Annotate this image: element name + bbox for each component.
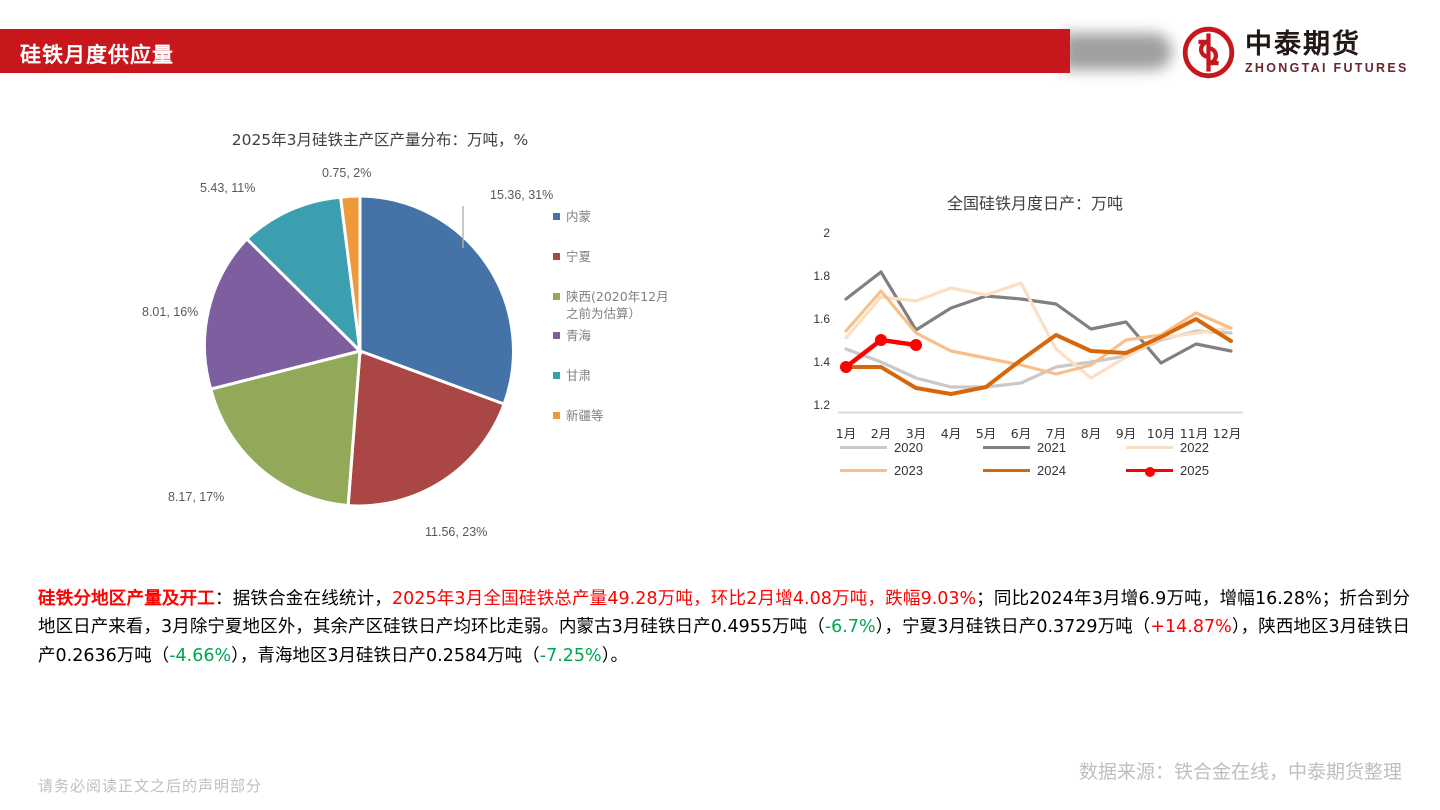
legend-swatch-icon [553, 253, 560, 260]
pie-chart-panel: 2025年3月硅铁主产区产量分布：万吨，% 15.36, 31% 11.56, … [150, 128, 670, 548]
legend-label: 2020 [894, 440, 923, 455]
line-chart-graphic [800, 220, 1245, 420]
legend-item-ningxia[interactable]: 宁夏 [553, 248, 671, 266]
legend-swatch-icon [553, 372, 560, 379]
legend-line-icon [1126, 469, 1173, 472]
legend-label: 2022 [1180, 440, 1209, 455]
legend-item-2022[interactable]: 2022 [1126, 440, 1269, 455]
commentary-t1: ：据铁合金在线统计， [215, 589, 392, 609]
legend-item-qinghai[interactable]: 青海 [553, 327, 671, 345]
brand-logo: 中泰期货 ZHONGTAI FUTURES [1182, 26, 1409, 79]
commentary-pct-shaanxi: -4.66% [169, 646, 231, 666]
legend-line-icon [840, 446, 887, 449]
legend-label: 青海 [566, 327, 591, 345]
legend-item-xinjiang[interactable]: 新疆等 [553, 407, 671, 425]
legend-swatch-icon [553, 412, 560, 419]
legend-label: 新疆等 [566, 407, 604, 425]
commentary-pct-neimeng: -6.7% [825, 617, 876, 637]
legend-swatch-icon [553, 332, 560, 339]
legend-item-2020[interactable]: 2020 [840, 440, 983, 455]
legend-item-2024[interactable]: 2024 [983, 463, 1126, 478]
legend-label: 陕西(2020年12月之前为估算） [566, 288, 671, 324]
legend-label: 甘肃 [566, 367, 591, 385]
pie-label-shaanxi: 8.17, 17% [168, 490, 224, 504]
commentary-pct-ningxia: +14.87% [1150, 617, 1231, 637]
commentary-paragraph: 硅铁分地区产量及开工：据铁合金在线统计，2025年3月全国硅铁总产量49.28万… [38, 585, 1410, 670]
legend-line-icon [1126, 446, 1173, 449]
logo-name-cn: 中泰期货 [1245, 31, 1409, 58]
legend-swatch-icon [553, 293, 560, 300]
pie-label-ningxia: 11.56, 23% [425, 525, 487, 539]
legend-label: 2024 [1037, 463, 1066, 478]
legend-label: 2023 [894, 463, 923, 478]
legend-item-2023[interactable]: 2023 [840, 463, 983, 478]
commentary-t6: ）。 [602, 646, 628, 666]
page-title: 硅铁月度供应量 [20, 39, 174, 69]
commentary-t5: ），青海地区3月硅铁日产0.2584万吨（ [231, 646, 540, 666]
line-chart-legend: 2020 2021 2022 2023 2024 [840, 440, 1270, 478]
commentary-highlight-total: 2025年3月全国硅铁总产量49.28万吨，环比2月增4.08万吨，跌幅9.03… [392, 589, 976, 609]
legend-label: 2021 [1037, 440, 1066, 455]
pie-chart-graphic [180, 176, 540, 526]
line-chart-panel: 全国硅铁月度日产：万吨 2 1.8 1.6 1.4 1.2 1月 2月 3月 [800, 190, 1270, 480]
pie-label-xinjiang: 0.75, 2% [322, 166, 371, 180]
legend-item-gansu[interactable]: 甘肃 [553, 367, 671, 385]
legend-line-icon [840, 469, 887, 472]
legend-item-2025[interactable]: 2025 [1126, 463, 1269, 478]
line-chart-title: 全国硅铁月度日产：万吨 [800, 190, 1270, 214]
pie-chart-legend: 内蒙 宁夏 陕西(2020年12月之前为估算） 青海 甘肃 新疆等 [553, 208, 671, 446]
legend-item-2021[interactable]: 2021 [983, 440, 1126, 455]
legend-item-inner-mongolia[interactable]: 内蒙 [553, 208, 671, 226]
legend-marker-icon [1145, 467, 1155, 477]
footer-disclaimer: 请务必阅读正文之后的声明部分 [38, 775, 262, 796]
legend-label: 2025 [1180, 463, 1209, 478]
pie-label-inner-mongolia: 15.36, 31% [490, 188, 553, 202]
commentary-lead: 硅铁分地区产量及开工 [38, 589, 215, 609]
legend-line-icon [983, 469, 1030, 472]
legend-swatch-icon [553, 213, 560, 220]
pie-label-qinghai: 8.01, 16% [142, 305, 198, 319]
logo-name-en: ZHONGTAI FUTURES [1245, 62, 1409, 75]
legend-line-icon [983, 446, 1030, 449]
pie-chart-title: 2025年3月硅铁主产区产量分布：万吨，% [150, 128, 610, 150]
legend-label: 宁夏 [566, 248, 591, 266]
legend-item-shaanxi[interactable]: 陕西(2020年12月之前为估算） [553, 288, 671, 324]
commentary-pct-qinghai: -7.25% [540, 646, 602, 666]
footer-data-source: 数据来源：铁合金在线，中泰期货整理 [1079, 757, 1402, 784]
header-bar-shadow [1062, 33, 1172, 70]
commentary-t3: ），宁夏3月硅铁日产0.3729万吨（ [876, 617, 1151, 637]
legend-label: 内蒙 [566, 208, 591, 226]
zhongtai-circle-logo-icon [1182, 26, 1235, 79]
pie-label-gansu: 5.43, 11% [200, 181, 255, 195]
